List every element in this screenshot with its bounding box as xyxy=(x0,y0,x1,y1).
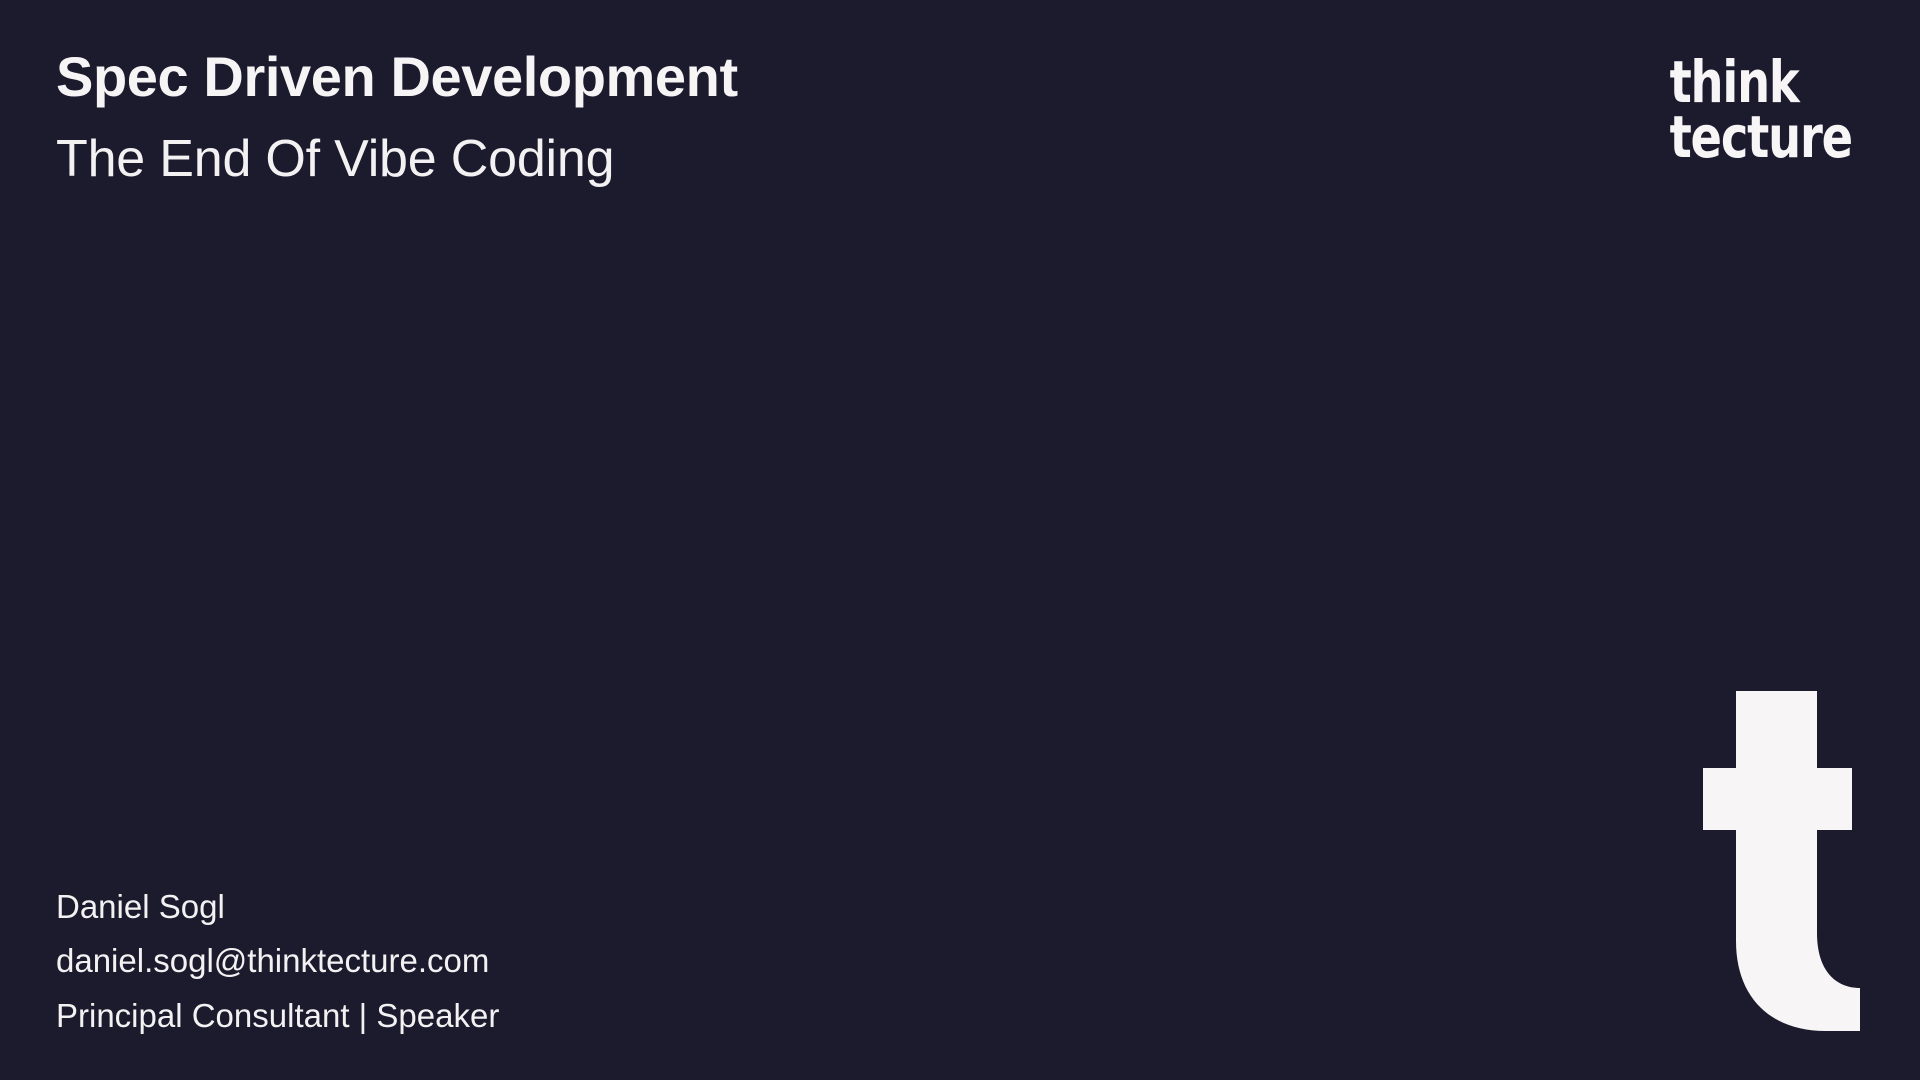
page-subtitle: The End Of Vibe Coding xyxy=(56,131,1256,188)
title-block: Spec Driven Development The End Of Vibe … xyxy=(56,46,1256,188)
thinktecture-wordmark: think tecture xyxy=(1670,56,1852,165)
speaker-info-block: Daniel Sogl daniel.sogl@thinktecture.com… xyxy=(56,880,956,1044)
speaker-name: Daniel Sogl xyxy=(56,880,956,935)
speaker-email: daniel.sogl@thinktecture.com xyxy=(56,934,956,989)
page-title: Spec Driven Development xyxy=(56,46,1256,109)
wordmark-line-tecture: tecture xyxy=(1670,111,1852,164)
wordmark-line-think: think xyxy=(1670,56,1852,109)
thinktecture-t-mark-icon xyxy=(1700,688,1860,1034)
speaker-role: Principal Consultant | Speaker xyxy=(56,989,956,1044)
title-slide: Spec Driven Development The End Of Vibe … xyxy=(0,0,1920,1080)
